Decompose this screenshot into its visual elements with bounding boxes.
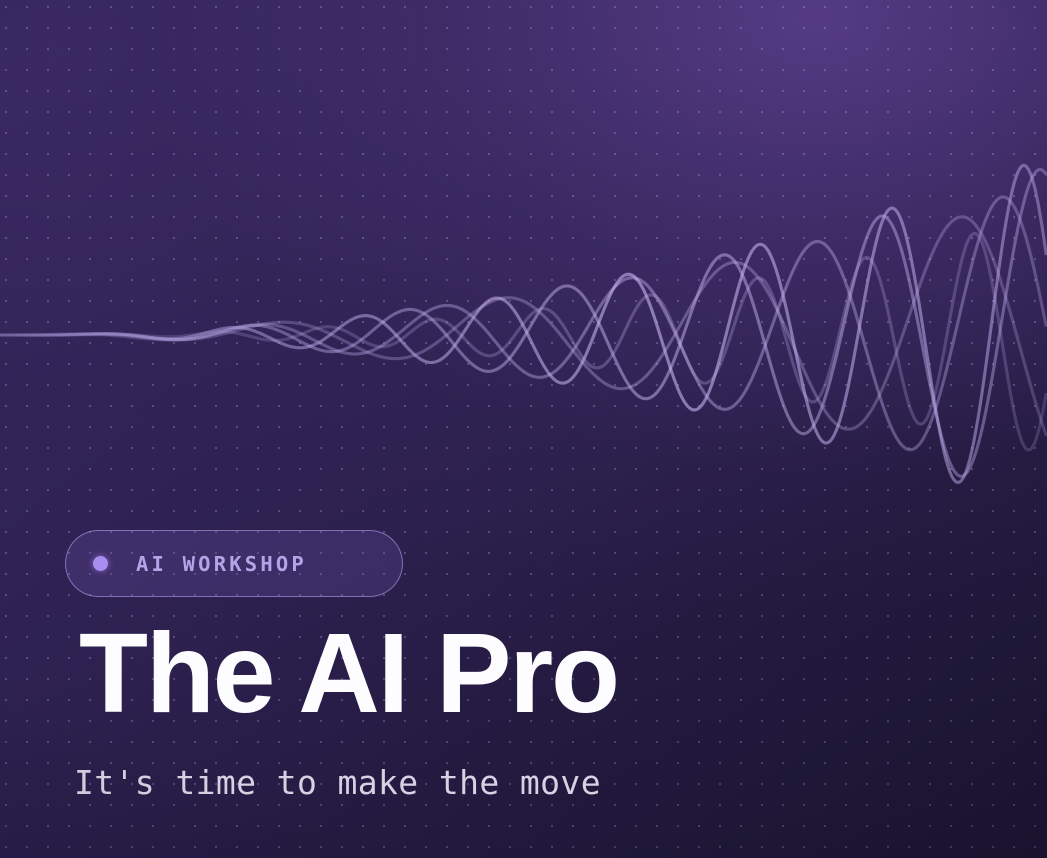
status-dot-icon bbox=[93, 556, 108, 571]
hero-content: AI WORKSHOP The AI Pro It's time to make… bbox=[0, 0, 1047, 858]
ai-workshop-badge[interactable]: AI WORKSHOP bbox=[65, 530, 403, 597]
page-subtitle: It's time to make the move bbox=[74, 763, 601, 802]
page-title: The AI Pro bbox=[79, 615, 618, 733]
badge-label: AI WORKSHOP bbox=[136, 552, 307, 576]
hero-canvas: AI WORKSHOP The AI Pro It's time to make… bbox=[0, 0, 1047, 858]
